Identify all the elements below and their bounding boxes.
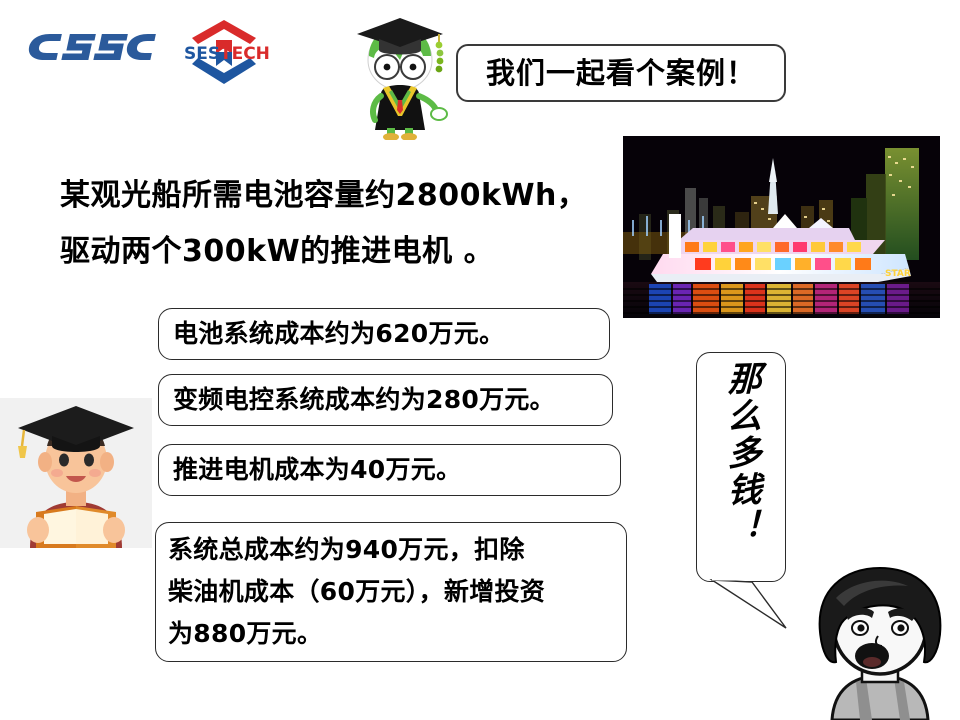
intro-speech-bubble: 我们一起看个案例！ xyxy=(456,44,786,102)
fact-box-vfd-control-system-cost-text: 变频电控系统成本约为280万元。 xyxy=(159,381,555,419)
summary-line-2: 柴油机成本（60万元），新增投资 xyxy=(168,571,545,613)
fact-box-total-cost-summary-body: 系统总成本约为940万元，扣除 柴油机成本（60万元），新增投资 为880万元。 xyxy=(156,529,545,655)
svg-text:STAR: STAR xyxy=(885,269,911,279)
fact-box-battery-system-cost: 电池系统成本约为620万元。 xyxy=(158,308,610,360)
fact-box-vfd-control-system-cost: 变频电控系统成本约为280万元。 xyxy=(158,374,613,426)
reaction-speech-bubble-text: 那么多钱！ xyxy=(721,360,761,546)
student-reading-image xyxy=(0,398,152,548)
slide-canvas: SES TECH xyxy=(0,0,960,720)
fact-box-propulsion-motor-cost-text: 推进电机成本为40万元。 xyxy=(159,451,461,489)
sestech-word-ses: SES xyxy=(184,44,220,64)
sestech-word-tech: TECH xyxy=(220,44,270,64)
cssc-logo xyxy=(28,24,158,70)
case-description-line-2: 驱动两个300kW的推进电机 。 xyxy=(60,224,620,280)
fact-box-battery-system-cost-text: 电池系统成本约为620万元。 xyxy=(159,315,504,353)
intro-speech-bubble-text: 我们一起看个案例！ xyxy=(486,59,756,88)
night-cruise-ship-photo: STAR xyxy=(623,136,940,318)
sestech-logo: SES TECH xyxy=(176,14,272,90)
graduate-mascot-icon xyxy=(345,12,455,140)
shocked-character-icon xyxy=(800,558,960,720)
fact-box-total-cost-summary: 系统总成本约为940万元，扣除 柴油机成本（60万元），新增投资 为880万元。 xyxy=(155,522,627,662)
reaction-speech-bubble: 那么多钱！ xyxy=(696,352,786,582)
summary-line-1: 系统总成本约为940万元，扣除 xyxy=(168,529,545,571)
case-description-line-1: 某观光船所需电池容量约2800kWh， xyxy=(60,168,620,224)
summary-line-3: 为880万元。 xyxy=(168,613,545,655)
case-description: 某观光船所需电池容量约2800kWh， 驱动两个300kW的推进电机 。 xyxy=(60,168,620,280)
fact-box-propulsion-motor-cost: 推进电机成本为40万元。 xyxy=(158,444,621,496)
